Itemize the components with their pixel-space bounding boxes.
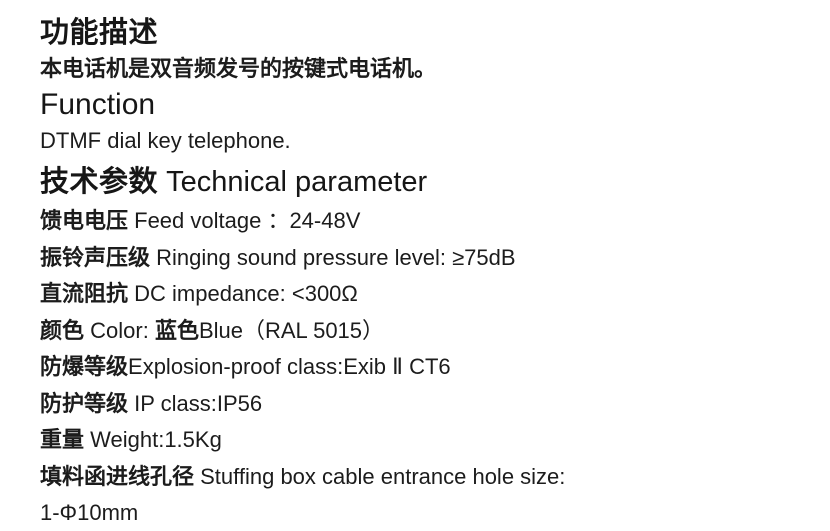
spec-value-color-chinese: 蓝色	[155, 318, 199, 343]
function-heading-english: Function	[40, 86, 830, 124]
technical-parameter-heading-chinese: 技术参数	[40, 166, 158, 198]
spec-sheet-page: 功能描述 本电话机是双音频发号的按键式电话机。 Function DTMF di…	[0, 0, 830, 528]
spec-row-weight: 重量 Weight:1.5Kg	[40, 422, 830, 459]
specification-list: 馈电电压 Feed voltage ：24-48V 振铃声压级 Ringing …	[40, 203, 830, 495]
spec-row-explosion-proof-class: 防爆等级Explosion-proof class:Exib Ⅱ CT6	[40, 349, 830, 386]
spec-value-english: Stuffing box cable entrance hole size:	[194, 464, 565, 489]
function-heading-chinese: 功能描述	[40, 0, 830, 52]
spec-value-english: DC impedance: <300Ω	[128, 281, 358, 306]
spec-row-stuffing-box-hole-size: 填料函进线孔径 Stuffing box cable entrance hole…	[40, 459, 830, 496]
spec-row-dc-impedance: 直流阻抗 DC impedance: <300Ω	[40, 276, 830, 313]
spec-value-english: Color:	[84, 318, 155, 343]
function-description-english: DTMF dial key telephone.	[40, 124, 830, 157]
spec-label-chinese: 馈电电压	[40, 208, 128, 233]
spec-value-english: IP class:IP56	[128, 391, 262, 416]
spec-label-chinese: 直流阻抗	[40, 281, 128, 306]
spec-row-ringing-sound-pressure-level: 振铃声压级 Ringing sound pressure level: ≥75d…	[40, 240, 830, 277]
spec-row-color: 颜色 Color: 蓝色Blue（RAL 5015）	[40, 313, 830, 350]
spec-label-chinese: 填料函进线孔径	[40, 464, 194, 489]
technical-parameter-heading-english: Technical parameter	[166, 166, 427, 198]
technical-parameter-section: 技术参数 Technical parameter 馈电电压 Feed volta…	[40, 157, 830, 531]
spec-row-stuffing-box-hole-size-continuation: 1-Φ10mm	[40, 495, 830, 531]
technical-parameter-heading: 技术参数 Technical parameter	[40, 157, 830, 203]
spec-label-chinese: 振铃声压级	[40, 245, 150, 270]
function-section: 功能描述 本电话机是双音频发号的按键式电话机。 Function DTMF di…	[40, 0, 830, 157]
spec-row-ip-class: 防护等级 IP class:IP56	[40, 386, 830, 423]
spec-value-english: Explosion-proof class:Exib Ⅱ CT6	[128, 354, 451, 379]
spec-value-english: Ringing sound pressure level: ≥75dB	[150, 245, 516, 270]
spec-label-chinese: 防护等级	[40, 391, 128, 416]
function-description-chinese: 本电话机是双音频发号的按键式电话机。	[40, 52, 830, 86]
spec-value-english: Weight:1.5Kg	[84, 427, 222, 452]
spec-label-chinese: 颜色	[40, 318, 84, 343]
spec-label-chinese: 防爆等级	[40, 354, 128, 379]
spec-row-feed-voltage: 馈电电压 Feed voltage ：24-48V	[40, 203, 830, 240]
spec-value-english: Feed voltage ：24-48V	[128, 208, 360, 233]
spec-label-chinese: 重量	[40, 427, 84, 452]
spec-value-color-english: Blue（RAL 5015）	[199, 318, 384, 343]
